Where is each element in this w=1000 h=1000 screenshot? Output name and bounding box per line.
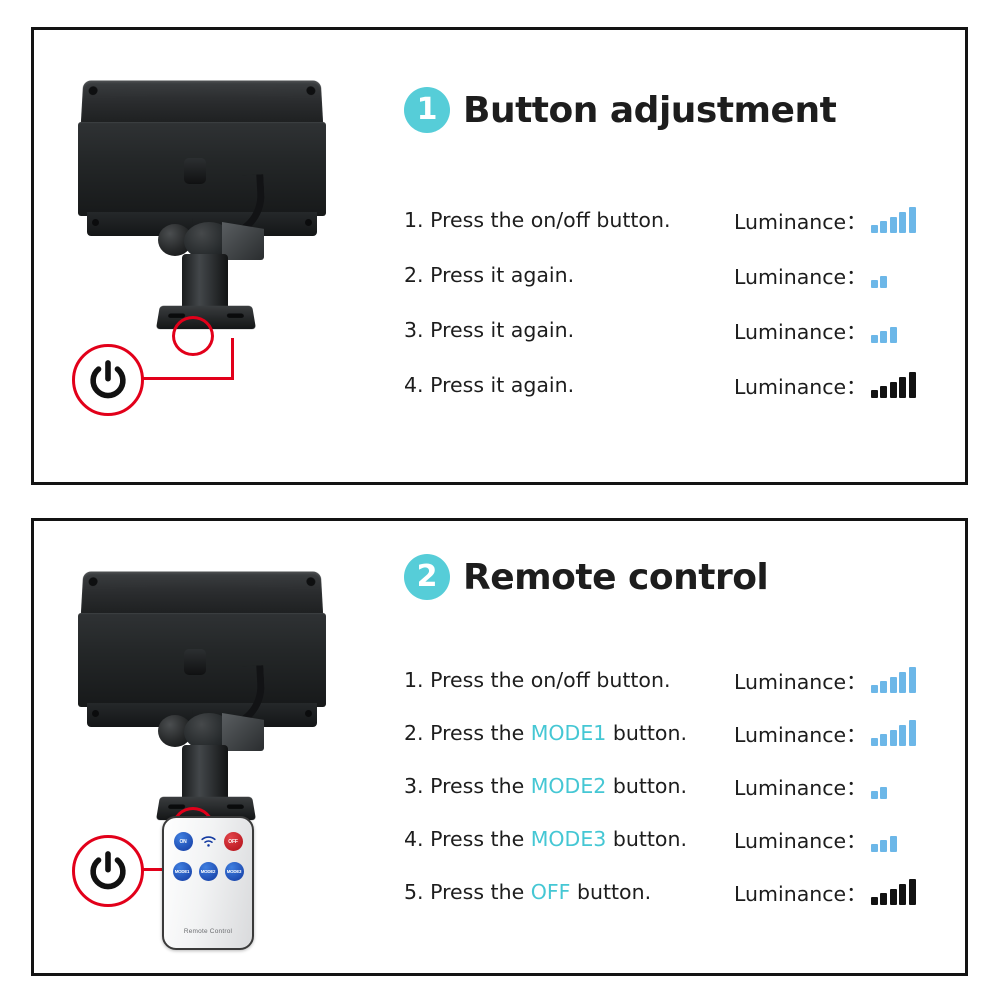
step-text-fragment: 1. Press the on/off button.: [404, 208, 670, 232]
luminance-level-bars: [871, 372, 925, 398]
luminance-label: Luminance：: [734, 877, 867, 907]
luminance-bar: [890, 382, 897, 398]
panel-2-heading: 2 Remote control: [404, 554, 768, 600]
luminance-bar: [880, 276, 887, 288]
instruction-step-text: 2. Press the MODE1 button.: [404, 721, 734, 745]
luminance-bar: [880, 840, 887, 852]
luminance-bar: [871, 280, 878, 288]
luminance-bar: [880, 386, 887, 398]
instruction-step-row: 2. Press it again.Luminance：: [404, 247, 951, 302]
instruction-step-row: 4. Press the MODE3 button.Luminance：: [404, 812, 951, 865]
luminance-bar: [909, 207, 916, 233]
panel-1-content: 1 Button adjustment 1. Press the on/off …: [394, 30, 965, 482]
power-button-icon: [87, 850, 129, 892]
step-text-fragment: 5. Press the: [404, 880, 531, 904]
luminance-bar: [880, 893, 887, 905]
step-number-badge: 1: [404, 87, 450, 133]
luminance-bar: [899, 377, 906, 398]
luminance-level-bars: [871, 826, 925, 852]
luminance-label: Luminance：: [734, 205, 867, 235]
remote-brand-label: Remote Control: [164, 928, 252, 935]
luminance-bar: [871, 335, 878, 343]
luminance-level-bars: [871, 773, 925, 799]
luminance-bar: [909, 879, 916, 905]
luminance-bar: [880, 734, 887, 746]
panel-1-heading: 1 Button adjustment: [404, 87, 836, 133]
step-text-fragment: 4. Press it again.: [404, 373, 574, 397]
instruction-step-text: 5. Press the OFF button.: [404, 880, 734, 904]
step-number-badge: 2: [404, 554, 450, 600]
luminance-label: Luminance：: [734, 315, 867, 345]
luminance-bar: [890, 730, 897, 746]
luminance-label: Luminance：: [734, 771, 867, 801]
luminance-bar: [890, 889, 897, 905]
luminance-bar: [899, 212, 906, 233]
lamp-top-cover: [81, 571, 324, 616]
step-text-fragment: button.: [606, 721, 687, 745]
luminance-bar: [899, 725, 906, 746]
panel-2-content: 2 Remote control 1. Press the on/off but…: [394, 521, 965, 973]
panel-1-step-list: 1. Press the on/off button.Luminance：2. …: [404, 192, 951, 412]
luminance-bar: [909, 720, 916, 746]
luminance-bar: [890, 327, 897, 343]
luminance-bar: [880, 221, 887, 233]
luminance-bar: [871, 791, 878, 799]
instruction-step-row: 1. Press the on/off button.Luminance：: [404, 192, 951, 247]
step-text-fragment: button.: [570, 880, 651, 904]
remote-mode1-button[interactable]: MODE1: [173, 862, 192, 881]
panel-button-adjustment: 1 Button adjustment 1. Press the on/off …: [31, 27, 968, 485]
luminance-bar: [880, 331, 887, 343]
callout-ring-power: [72, 835, 144, 907]
instruction-step-text: 2. Press it again.: [404, 263, 734, 287]
luminance-label: Luminance：: [734, 260, 867, 290]
step-text-fragment: 3. Press it again.: [404, 318, 574, 342]
luminance-level-bars: [871, 207, 925, 233]
callout-connector-horizontal: [142, 377, 234, 380]
instruction-step-row: 1. Press the on/off button.Luminance：: [404, 653, 951, 706]
instruction-step-row: 4. Press it again.Luminance：: [404, 357, 951, 412]
lamp-top-cover: [81, 80, 324, 125]
instruction-step-text: 3. Press the MODE2 button.: [404, 774, 734, 798]
remote-button-row-bottom: MODE1 MODE2 MODE3: [164, 862, 252, 881]
luminance-bar: [880, 787, 887, 799]
step-text-fragment: 2. Press the: [404, 721, 531, 745]
remote-mode3-button[interactable]: MODE3: [225, 862, 244, 881]
instruction-step-text: 1. Press the on/off button.: [404, 668, 734, 692]
luminance-bar: [871, 225, 878, 233]
mode-keyword: MODE1: [531, 721, 607, 745]
instruction-step-text: 1. Press the on/off button.: [404, 208, 734, 232]
luminance-level-bars: [871, 262, 925, 288]
luminance-bar: [871, 390, 878, 398]
lamp-illustration-2: ON OFF MODE1 MODE2 MODE3 Remote Control: [34, 521, 394, 973]
mode-keyword: MODE3: [531, 827, 607, 851]
panel-remote-control: ON OFF MODE1 MODE2 MODE3 Remote Control: [31, 518, 968, 976]
instruction-step-text: 3. Press it again.: [404, 318, 734, 342]
remote-on-button[interactable]: ON: [174, 832, 193, 851]
mount-post: [182, 745, 228, 801]
mount-slot-right: [227, 313, 244, 317]
luminance-bar: [899, 884, 906, 905]
luminance-bar: [871, 685, 878, 693]
page-title: Remote control: [463, 557, 768, 598]
instruction-step-row: 2. Press the MODE1 button.Luminance：: [404, 706, 951, 759]
luminance-label: Luminance：: [734, 824, 867, 854]
page-title: Button adjustment: [463, 90, 836, 131]
luminance-bar: [871, 897, 878, 905]
luminance-level-bars: [871, 720, 925, 746]
step-text-fragment: button.: [606, 774, 687, 798]
floodlight-product-image: [54, 72, 354, 372]
luminance-label: Luminance：: [734, 718, 867, 748]
instruction-step-row: 5. Press the OFF button.Luminance：: [404, 865, 951, 918]
instruction-sheet: 1 Button adjustment 1. Press the on/off …: [0, 0, 1000, 1000]
remote-off-button[interactable]: OFF: [224, 832, 243, 851]
luminance-bar: [899, 672, 906, 693]
instruction-step-row: 3. Press it again.Luminance：: [404, 302, 951, 357]
luminance-bar: [871, 738, 878, 746]
instruction-step-row: 3. Press the MODE2 button.Luminance：: [404, 759, 951, 812]
step-text-fragment: button.: [606, 827, 687, 851]
luminance-label: Luminance：: [734, 665, 867, 695]
lamp-illustration-1: [34, 30, 394, 482]
step-text-fragment: 4. Press the: [404, 827, 531, 851]
callout-connector-vertical: [231, 338, 234, 380]
instruction-step-text: 4. Press the MODE3 button.: [404, 827, 734, 851]
luminance-bar: [909, 372, 916, 398]
luminance-label: Luminance：: [734, 370, 867, 400]
step-text-fragment: 1. Press the on/off button.: [404, 668, 670, 692]
mode-keyword: MODE2: [531, 774, 607, 798]
luminance-bar: [880, 681, 887, 693]
callout-ring-button: [172, 316, 214, 356]
remote-control-device[interactable]: ON OFF MODE1 MODE2 MODE3 Remote Control: [162, 816, 254, 950]
instruction-step-text: 4. Press it again.: [404, 373, 734, 397]
panel-2-step-list: 1. Press the on/off button.Luminance：2. …: [404, 653, 951, 918]
luminance-level-bars: [871, 667, 925, 693]
luminance-bar: [890, 836, 897, 852]
mount-post: [182, 254, 228, 310]
luminance-bar: [890, 677, 897, 693]
mode-keyword: OFF: [531, 880, 571, 904]
remote-mode2-button[interactable]: MODE2: [199, 862, 218, 881]
step-text-fragment: 2. Press it again.: [404, 263, 574, 287]
luminance-level-bars: [871, 317, 925, 343]
step-text-fragment: 3. Press the: [404, 774, 531, 798]
power-button-icon: [87, 359, 129, 401]
luminance-bar: [871, 844, 878, 852]
luminance-bar: [909, 667, 916, 693]
mount-slot-right: [227, 804, 244, 808]
luminance-bar: [890, 217, 897, 233]
callout-ring-power: [72, 344, 144, 416]
remote-wifi-icon[interactable]: [200, 835, 217, 848]
remote-button-row-top: ON OFF: [164, 832, 252, 851]
luminance-level-bars: [871, 879, 925, 905]
